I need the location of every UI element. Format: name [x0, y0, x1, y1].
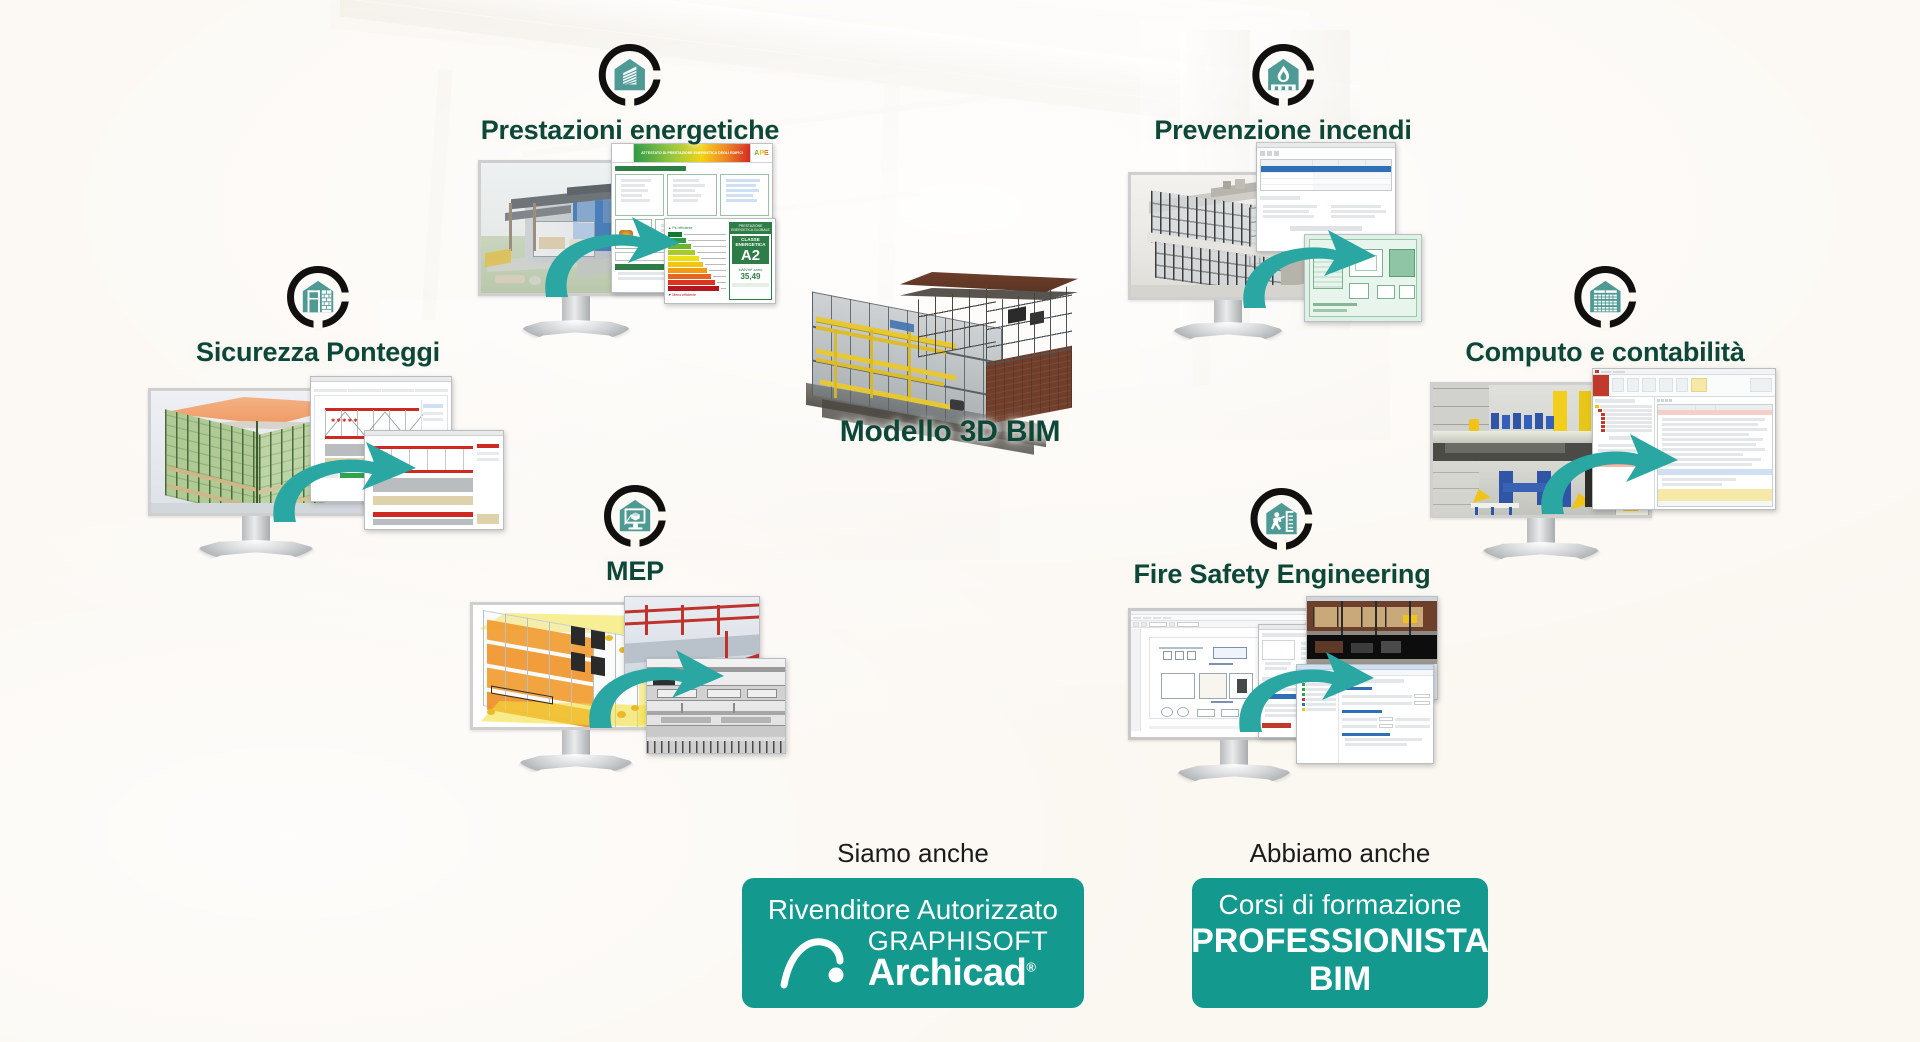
node-sicurezza-ponteggi[interactable]: Sicurezza Ponteggi — [196, 266, 440, 368]
monitor-prevenzione-incendi — [1128, 172, 1328, 300]
monitor-neck — [562, 296, 590, 322]
spreadsheet-house-icon[interactable] — [1574, 266, 1636, 328]
monitor-computo-contabilita — [1430, 382, 1652, 518]
node-fire-safety-engineering[interactable]: Fire Safety Engineering — [1134, 488, 1431, 590]
monitor-mep — [470, 602, 682, 730]
monitor-3d-house-icon[interactable] — [604, 485, 666, 547]
node-label: Sicurezza Ponteggi — [196, 337, 440, 368]
badge-pre-text: Siamo anche — [837, 838, 989, 869]
monitor-neck — [562, 730, 590, 756]
monitor-prestazioni-energetiche: ATTESTATO DI PRESTAZIONE ENERGETICA DEGL… — [478, 160, 674, 296]
evacuation-floorplan-window — [1304, 234, 1422, 322]
archicad-wordmark: Archicad — [868, 952, 1027, 994]
evacuation-house-icon[interactable] — [1251, 488, 1313, 550]
center-label: Modello 3D BIM — [840, 415, 1061, 449]
monitor-neck — [1214, 300, 1242, 324]
fse-parameters-dialog — [1296, 664, 1434, 764]
badge-line1: Rivenditore Autorizzato — [768, 894, 1058, 926]
node-prestazioni-energetiche[interactable]: Prestazioni energetiche — [481, 44, 780, 146]
node-label: Prestazioni energetiche — [481, 115, 780, 146]
archicad-arc-logo — [778, 929, 854, 991]
node-mep[interactable]: MEP — [604, 485, 666, 587]
archicad-badge[interactable]: Rivenditore Autorizzato GRAPHISOFT Archi… — [742, 878, 1084, 1008]
mep-section-render-window — [646, 658, 786, 754]
monitor-neck — [1527, 518, 1555, 544]
badge-strong-line2: BIM — [1309, 961, 1371, 997]
scaffolding-section-window — [364, 430, 504, 530]
archicad-logo-row: GRAPHISOFT Archicad® — [778, 928, 1049, 992]
badge-bim-training[interactable]: Abbiamo anche Corsi di formazione PROFES… — [1192, 838, 1488, 1008]
energy-class-caption: CLASSE ENERGETICA — [732, 236, 769, 248]
node-label: MEP — [606, 556, 664, 587]
registered-mark: ® — [1026, 959, 1035, 974]
energy-class-label: ▲ Più efficiente ▼ Meno efficiente PREST… — [664, 218, 776, 304]
energy-value: 35,49 — [730, 272, 771, 281]
energy-house-icon[interactable] — [599, 44, 661, 106]
accounting-software-window — [1592, 368, 1776, 510]
badge-line1: Corsi di formazione — [1218, 889, 1461, 921]
node-label: Fire Safety Engineering — [1134, 559, 1431, 590]
badge-archicad-reseller[interactable]: Siamo anche Rivenditore Autorizzato GRAP… — [742, 838, 1084, 1008]
node-computo-contabilita[interactable]: Computo e contabilità — [1465, 266, 1744, 368]
infographic-canvas: ATTESTATO DI PRESTAZIONE ENERGETICA DEGL… — [0, 0, 1920, 1042]
badge-pre-text: Abbiamo anche — [1250, 838, 1431, 869]
monitor-neck — [242, 516, 270, 542]
monitor-sicurezza-ponteggi: ✱ ✱ ✱ ✱ ✱ — [148, 388, 364, 516]
fire-house-icon[interactable] — [1252, 44, 1314, 106]
node-label: Prevenzione incendi — [1154, 115, 1411, 146]
scaffold-house-icon[interactable] — [287, 266, 349, 328]
energy-class-value: A2 — [732, 248, 769, 265]
bim-training-badge[interactable]: Corsi di formazione PROFESSIONISTA BIM — [1192, 878, 1488, 1008]
certificate-title: ATTESTATO DI PRESTAZIONE ENERGETICA DEGL… — [641, 151, 743, 155]
badge-strong-line1: PROFESSIONISTA — [1191, 923, 1489, 959]
monitor-neck — [1220, 740, 1248, 766]
monitor-fire-safety — [1128, 608, 1340, 740]
node-prevenzione-incendi[interactable]: Prevenzione incendi — [1154, 44, 1411, 146]
node-label: Computo e contabilità — [1465, 337, 1744, 368]
